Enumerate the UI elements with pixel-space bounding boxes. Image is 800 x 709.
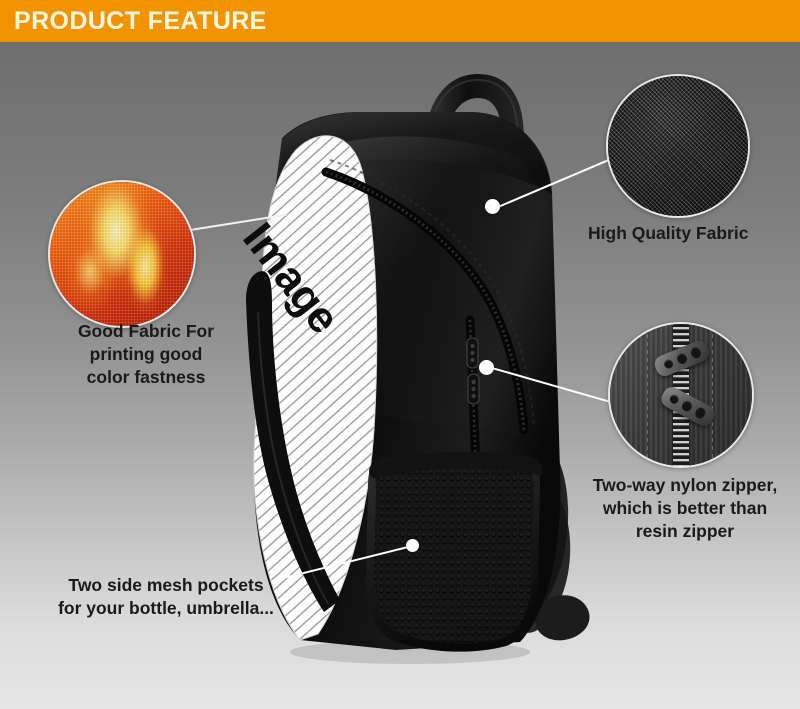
zipper-pull-lower: [468, 374, 479, 404]
caption-high-quality-fabric: High Quality Fabric: [588, 222, 788, 245]
caption-side-mesh-pockets: Two side mesh pockets for your bottle, u…: [38, 574, 294, 620]
infographic-canvas: PRODUCT FEATURE: [0, 0, 800, 709]
caption-two-way-zipper: Two-way nylon zipper, which is better th…: [578, 474, 792, 543]
callout-dot-two-way-zipper: [479, 360, 494, 375]
callout-dot-side-mesh-pockets: [406, 539, 419, 552]
detail-circle-good-fabric: [48, 180, 196, 328]
drop-shadow: [290, 640, 530, 664]
zipper-pull-upper: [467, 338, 478, 368]
flame-fabric-swatch-icon: [50, 182, 194, 326]
callout-dot-high-quality-fabric: [485, 199, 500, 214]
detail-circle-two-way-zipper: [608, 322, 754, 468]
caption-good-fabric: Good Fabric For printing good color fast…: [44, 320, 248, 389]
woven-fabric-swatch-icon: [608, 76, 748, 216]
zipper-macro-icon: [610, 324, 752, 466]
detail-circle-high-quality-fabric: [606, 74, 750, 218]
